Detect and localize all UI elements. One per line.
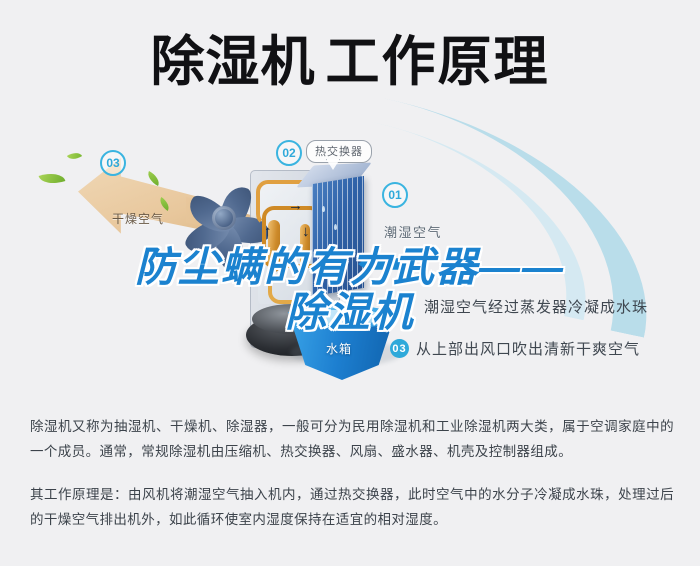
water-tank-rim-inner — [298, 310, 386, 324]
water-droplet — [318, 274, 321, 280]
water-droplet — [344, 262, 347, 268]
humid-air-label: 潮湿空气 — [384, 222, 442, 241]
water-tank-label: 水箱 — [326, 340, 352, 357]
step-marker-01: 01 — [382, 182, 408, 208]
step-marker-03: 03 — [100, 150, 126, 176]
step-badge-03: 03 — [390, 339, 409, 358]
step-description-03-text: 从上部出风口吹出清新干爽空气 — [416, 338, 640, 359]
fan-hub — [212, 206, 236, 230]
flow-arrow-right-icon: → — [288, 198, 303, 213]
step-description-02: 02 潮湿空气经过蒸发器冷凝成水珠 — [398, 296, 648, 317]
body-paragraph-1: 除湿机又称为抽湿机、干燥机、除湿器，一般可分为民用除湿机和工业除湿机两大类，属于… — [30, 414, 674, 464]
page-title-part2: 工作原理 — [326, 32, 550, 92]
body-copy: 除湿机又称为抽湿机、干燥机、除湿器，一般可分为民用除湿机和工业除湿机两大类，属于… — [30, 414, 674, 532]
leaf-icon — [39, 169, 66, 189]
dry-air-label: 干燥空气 — [112, 210, 164, 227]
water-droplet — [334, 224, 337, 230]
step-description-03: 03 从上部出风口吹出清新干爽空气 — [390, 338, 640, 359]
flow-arrow-up-icon: ↑ — [264, 224, 272, 239]
flow-arrow-down-icon: ↓ — [302, 224, 310, 239]
page-title: 除湿机工作原理 — [0, 32, 700, 92]
step-marker-02: 02 — [276, 140, 302, 166]
body-paragraph-2: 其工作原理是：由风机将潮湿空气抽入机内，通过热交换器，此时空气中的水分子冷凝成水… — [30, 482, 674, 532]
page-title-part1: 除湿机 — [151, 32, 316, 92]
leaf-icon — [67, 149, 82, 163]
water-droplet — [322, 206, 325, 212]
step-description-02-text: 潮湿空气经过蒸发器冷凝成水珠 — [424, 296, 648, 317]
water-droplet — [326, 248, 329, 254]
